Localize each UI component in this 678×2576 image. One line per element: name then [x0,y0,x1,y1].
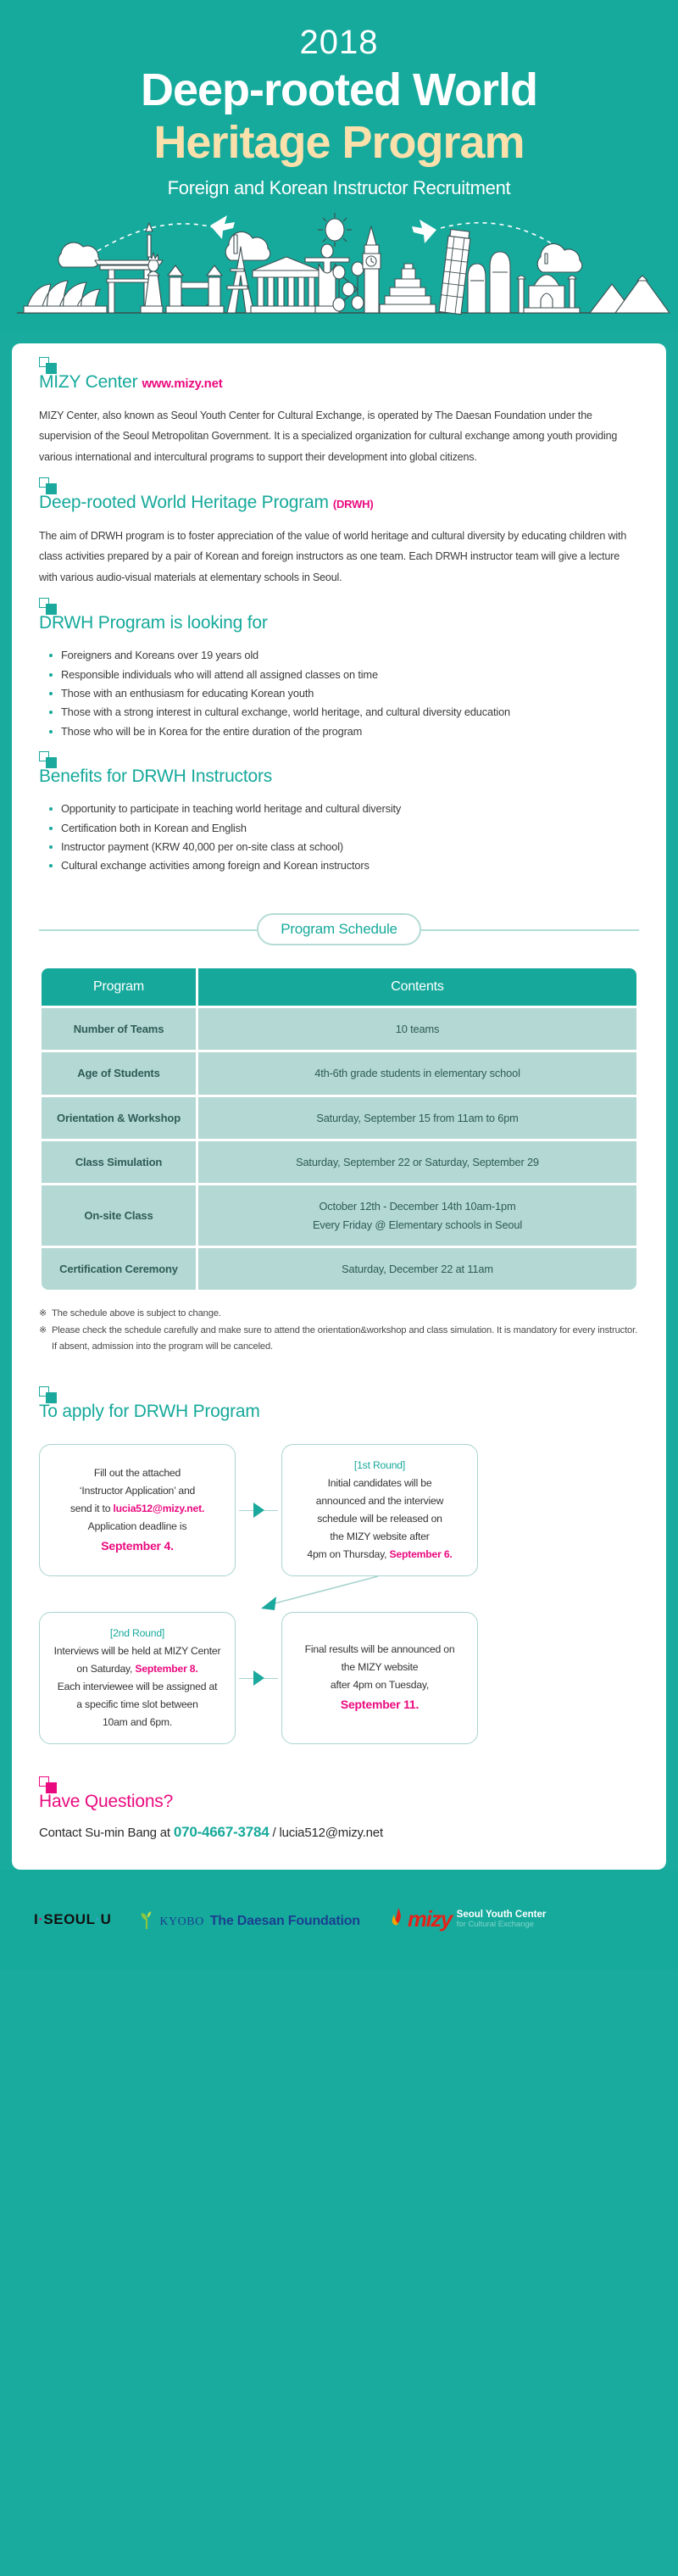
section-looking-for: DRWH Program is looking for [39,613,639,633]
mizy-tagline-line1: Seoul Youth Center [457,1910,547,1921]
square-bullet-icon [39,1776,58,1795]
step4-line-c: after 4pm on Tuesday, [294,1676,465,1694]
world-skyline-illustration [0,204,678,332]
drwh-program-title: Deep-rooted World Heritage Program [39,493,329,512]
schedule-note: The schedule above is subject to change. [39,1306,639,1323]
list-item: Instructor payment (KRW 40,000 per on-si… [49,838,639,856]
step1-line-c: send it to lucia512@mizy.net. [52,1500,223,1518]
square-bullet-icon [39,598,58,616]
kyobo-label: KYOBO [159,1915,203,1929]
flow-arrow-right-icon [236,1444,281,1576]
list-item: Responsible individuals who will attend … [49,666,639,684]
step1-line-b: ‘Instructor Application’ and [52,1482,223,1500]
cell-program: Orientation & Workshop [42,1097,196,1139]
flow-step-1: Fill out the attached ‘Instructor Applic… [39,1444,236,1576]
program-schedule-divider: Program Schedule [39,912,639,947]
cell-program: Certification Ceremony [42,1248,196,1290]
list-item: Certification both in Korean and English [49,819,639,838]
table-row: On-site Class October 12th - December 14… [42,1185,636,1245]
poster-year: 2018 [0,24,678,61]
step2-line-c: schedule will be released on [294,1510,465,1528]
section-benefits: Benefits for DRWH Instructors [39,767,639,787]
program-schedule-pill: Program Schedule [257,913,421,945]
flow-connector-diagonal [39,1576,639,1612]
step3-line-a: Interviews will be held at MIZY Center [52,1642,223,1660]
table-header-row: Program Contents [42,968,636,1006]
drwh-program-abbr: (DRWH) [333,498,374,510]
step2-line-a: Initial candidates will be [294,1475,465,1492]
square-bullet-icon [39,1386,58,1405]
list-item: Those who will be in Korea for the entir… [49,722,639,741]
mizy-center-url[interactable]: www.mizy.net [142,376,222,391]
logo-i-seoul-u: I·SEOUL·U [34,1911,111,1928]
step3-line-e: 10am and 6pm. [52,1714,223,1731]
cell-program: Age of Students [42,1052,196,1094]
benefits-title: Benefits for DRWH Instructors [39,767,272,786]
flow-step-2: [1st Round] Initial candidates will be a… [281,1444,478,1576]
looking-for-list: Foreigners and Koreans over 19 years old… [39,646,639,741]
cell-contents: Saturday, September 15 from 11am to 6pm [198,1097,636,1139]
have-questions-title: Have Questions? [39,1792,173,1811]
flow-step-3: [2nd Round] Interviews will be held at M… [39,1612,236,1744]
step3-line-b: on Saturday, September 8. [52,1660,223,1678]
list-item: Foreigners and Koreans over 19 years old [49,646,639,665]
step2-date: September 6. [389,1548,452,1560]
cell-program: On-site Class [42,1185,196,1245]
section-drwh-program: Deep-rooted World Heritage Program(DRWH) [39,493,639,513]
square-bullet-icon [39,751,58,770]
mizy-center-body: MIZY Center, also known as Seoul Youth C… [39,405,639,467]
step2-line-b: announced and the interview [294,1492,465,1510]
application-flow: Fill out the attached ‘Instructor Applic… [39,1444,639,1744]
contact-line: Contact Su-min Bang at 070-4667-3784 / l… [39,1824,639,1841]
step1-deadline: September 4. [52,1536,223,1556]
section-to-apply: To apply for DRWH Program [39,1402,639,1422]
table-row: Orientation & Workshop Saturday, Septemb… [42,1097,636,1139]
list-item: Those with a strong interest in cultural… [49,703,639,722]
schedule-note: Please check the schedule carefully and … [39,1323,639,1356]
step3-line-d: a specific time slot between [52,1696,223,1714]
step3-round-label: [2nd Round] [52,1625,223,1642]
cell-contents: 4th-6th grade students in elementary sch… [198,1052,636,1094]
content-card: MIZY Centerwww.mizy.net MIZY Center, als… [12,343,666,1870]
flow-arrow-right-icon [236,1612,281,1744]
flow-row-top: Fill out the attached ‘Instructor Applic… [39,1444,639,1576]
schedule-table: Program Contents Number of Teams 10 team… [39,966,639,1292]
step3-line-c: Each interviewee will be assigned at [52,1678,223,1696]
drwh-program-body: The aim of DRWH program is to foster app… [39,526,639,588]
poster-title-line1: Deep-rooted World [0,64,678,115]
table-row: Class Simulation Saturday, September 22 … [42,1141,636,1183]
section-mizy-center: MIZY Centerwww.mizy.net [39,372,639,393]
table-row: Age of Students 4th-6th grade students i… [42,1052,636,1094]
step4-line-b: the MIZY website [294,1659,465,1676]
step4-line-a: Final results will be announced on [294,1641,465,1659]
square-bullet-icon [39,477,58,496]
cell-contents: Saturday, December 22 at 11am [198,1248,636,1290]
looking-for-title: DRWH Program is looking for [39,613,268,633]
mizy-wordmark: mizy [408,1906,452,1932]
table-row: Number of Teams 10 teams [42,1008,636,1050]
daesan-label: The Daesan Foundation [210,1914,360,1929]
benefits-list: Opportunity to participate in teaching w… [39,800,639,876]
sprout-icon [140,1910,153,1929]
step3-date: September 8. [135,1663,197,1675]
flame-icon [389,1906,403,1933]
list-item: Those with an enthusiasm for educating K… [49,684,639,703]
flow-connector-icon [39,1576,480,1612]
cell-program: Class Simulation [42,1141,196,1183]
schedule-notes: The schedule above is subject to change.… [39,1306,639,1356]
flow-step-4: Final results will be announced on the M… [281,1612,478,1744]
cell-contents: 10 teams [198,1008,636,1050]
step1-line-a: Fill out the attached [52,1464,223,1482]
step4-date: September 11. [294,1694,465,1715]
contact-separator: / [270,1826,280,1840]
step1-line-d: Application deadline is [52,1518,223,1536]
cell-contents: Saturday, September 22 or Saturday, Sept… [198,1141,636,1183]
list-item: Opportunity to participate in teaching w… [49,800,639,818]
column-header-contents: Contents [198,968,636,1006]
list-item: Cultural exchange activities among forei… [49,856,639,875]
step1-email[interactable]: lucia512@mizy.net. [114,1503,205,1514]
column-header-program: Program [42,968,196,1006]
poster-subtitle: Foreign and Korean Instructor Recruitmen… [0,177,678,199]
mizy-tagline-line2: for Cultural Exchange [457,1921,547,1930]
section-have-questions: Have Questions? [39,1792,639,1812]
poster-header: 2018 Deep-rooted World Heritage Program … [0,0,678,332]
step2-line-e: 4pm on Thursday, September 6. [294,1546,465,1564]
contact-prefix: Contact Su-min Bang at [39,1826,174,1840]
square-bullet-icon [39,357,58,376]
step2-round-label: [1st Round] [294,1457,465,1475]
contact-email[interactable]: lucia512@mizy.net [279,1826,382,1840]
flow-row-bottom: [2nd Round] Interviews will be held at M… [39,1612,639,1744]
cell-program: Number of Teams [42,1008,196,1050]
step2-line-d: the MIZY website after [294,1528,465,1546]
poster-title-line2: Heritage Program [0,117,678,168]
footer-logos: I·SEOUL·U KYOBO The Daesan Foundation mi… [0,1870,678,1970]
logo-mizy: mizy Seoul Youth Center for Cultural Exc… [389,1906,546,1933]
mizy-tagline: Seoul Youth Center for Cultural Exchange [457,1910,547,1930]
to-apply-title: To apply for DRWH Program [39,1402,260,1421]
contact-phone[interactable]: 070-4667-3784 [174,1824,270,1840]
logo-daesan-foundation: KYOBO The Daesan Foundation [140,1910,359,1929]
cell-contents: October 12th - December 14th 10am-1pm Ev… [198,1185,636,1245]
table-row: Certification Ceremony Saturday, Decembe… [42,1248,636,1290]
